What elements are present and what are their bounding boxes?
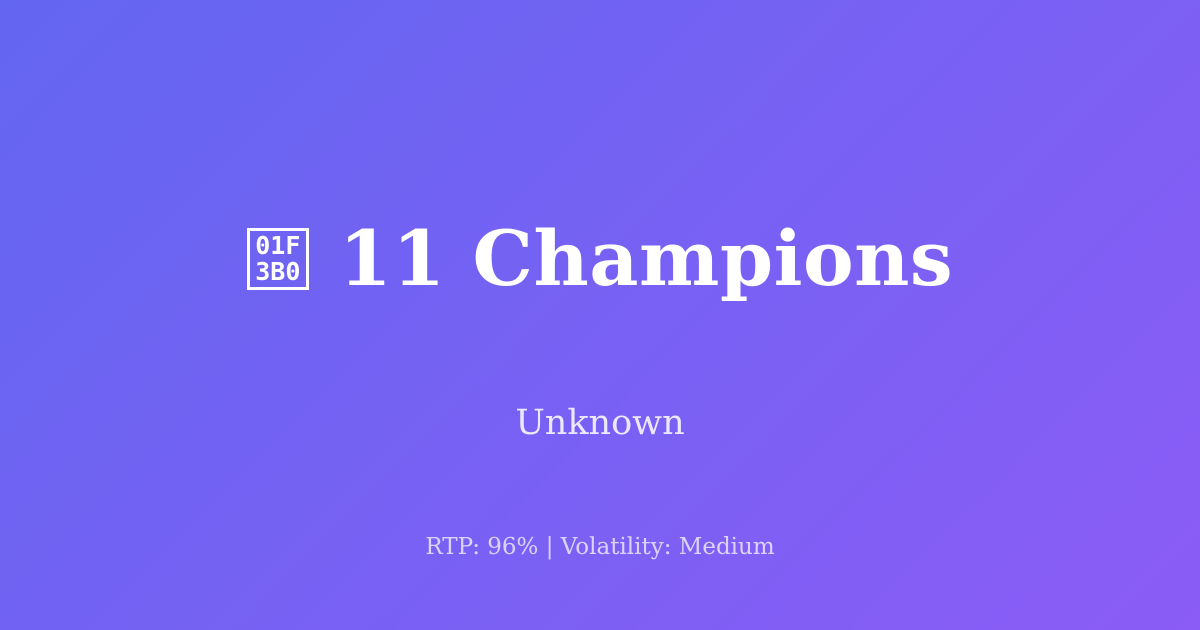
game-info-card: 01F 3B0 11 Champions Unknown RTP: 96% | … — [0, 0, 1200, 630]
meta-text: RTP: 96% | Volatility: Medium — [425, 534, 774, 560]
card-hero: 01F 3B0 11 Champions Unknown — [247, 168, 953, 444]
codepoint-line-2: 3B0 — [255, 259, 300, 285]
codepoint-line-1: 01F — [255, 233, 300, 259]
game-meta-line: RTP: 96% | Volatility: Medium — [0, 534, 1200, 562]
title-row: 01F 3B0 11 Champions — [247, 168, 953, 350]
page-title: 11 Champions — [339, 219, 953, 299]
slot-machine-icon: 01F 3B0 — [247, 228, 309, 290]
card-subtitle: Unknown — [515, 402, 684, 444]
